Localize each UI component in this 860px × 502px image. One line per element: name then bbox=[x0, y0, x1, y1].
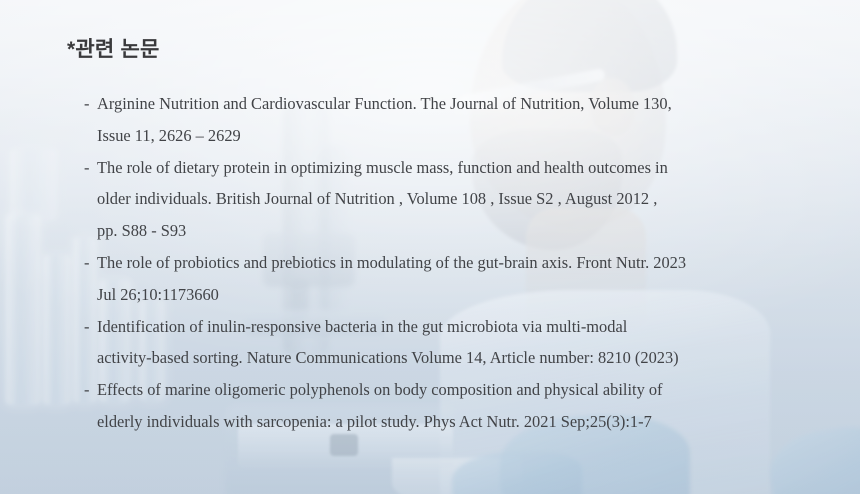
bullet-dash: - bbox=[84, 152, 97, 184]
reference-line: -The role of dietary protein in optimizi… bbox=[84, 152, 854, 184]
reference-text: Effects of marine oligomeric polyphenols… bbox=[97, 380, 663, 399]
reference-text: Identification of inulin-responsive bact… bbox=[97, 317, 627, 336]
list-item: -Identification of inulin-responsive bac… bbox=[84, 311, 854, 375]
reference-text: Arginine Nutrition and Cardiovascular Fu… bbox=[97, 94, 672, 113]
slide-canvas: *관련 논문 -Arginine Nutrition and Cardiovas… bbox=[0, 0, 860, 502]
list-item: -The role of dietary protein in optimizi… bbox=[84, 152, 854, 247]
reference-line: Jul 26;10:1173660 bbox=[84, 279, 854, 311]
bullet-dash: - bbox=[84, 247, 97, 279]
reference-line: activity-based sorting. Nature Communica… bbox=[84, 342, 854, 374]
reference-line: pp. S88 - S93 bbox=[84, 215, 854, 247]
reference-list: -Arginine Nutrition and Cardiovascular F… bbox=[84, 88, 854, 438]
list-item: -Arginine Nutrition and Cardiovascular F… bbox=[84, 88, 854, 152]
reference-text: The role of probiotics and prebiotics in… bbox=[97, 253, 686, 272]
reference-line: older individuals. British Journal of Nu… bbox=[84, 183, 854, 215]
reference-text: The role of dietary protein in optimizin… bbox=[97, 158, 668, 177]
bullet-dash: - bbox=[84, 311, 97, 343]
reference-line: -Identification of inulin-responsive bac… bbox=[84, 311, 854, 343]
bullet-dash: - bbox=[84, 374, 97, 406]
page-title: *관련 논문 bbox=[67, 33, 160, 63]
reference-line: -The role of probiotics and prebiotics i… bbox=[84, 247, 854, 279]
reference-line: -Arginine Nutrition and Cardiovascular F… bbox=[84, 88, 854, 120]
list-item: -The role of probiotics and prebiotics i… bbox=[84, 247, 854, 311]
reference-line: -Effects of marine oligomeric polyphenol… bbox=[84, 374, 854, 406]
reference-line: Issue 11, 2626 – 2629 bbox=[84, 120, 854, 152]
bottom-white-strip bbox=[0, 494, 860, 502]
reference-line: elderly individuals with sarcopenia: a p… bbox=[84, 406, 854, 438]
slide-content: *관련 논문 -Arginine Nutrition and Cardiovas… bbox=[0, 0, 860, 502]
bullet-dash: - bbox=[84, 88, 97, 120]
list-item: -Effects of marine oligomeric polyphenol… bbox=[84, 374, 854, 438]
